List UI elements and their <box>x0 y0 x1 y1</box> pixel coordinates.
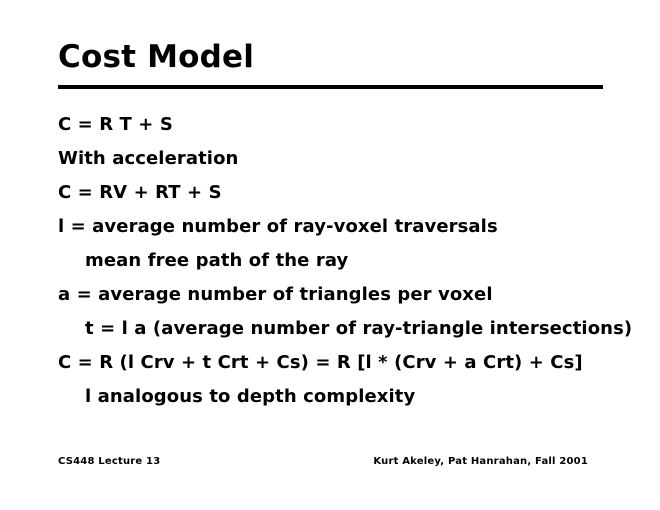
body-line: a = average number of triangles per voxe… <box>58 278 638 312</box>
footer-lecture-label: CS448 Lecture 13 <box>58 456 160 467</box>
page-title: Cost Model <box>58 38 254 76</box>
footer-authors-label: Kurt Akeley, Pat Hanrahan, Fall 2001 <box>373 456 588 467</box>
slide-body: C = R T + SWith accelerationC = RV + RT … <box>58 108 638 414</box>
body-line: With acceleration <box>58 142 638 176</box>
body-line: C = R (l Crv + t Crt + Cs) = R [l * (Crv… <box>58 346 638 380</box>
body-line: l analogous to depth complexity <box>58 380 638 414</box>
slide-footer: CS448 Lecture 13 Kurt Akeley, Pat Hanrah… <box>58 456 588 467</box>
body-line: l = average number of ray-voxel traversa… <box>58 210 638 244</box>
title-divider <box>58 85 603 89</box>
body-line: mean free path of the ray <box>58 244 638 278</box>
body-line: t = l a (average number of ray-triangle … <box>58 312 638 346</box>
body-line: C = RV + RT + S <box>58 176 638 210</box>
body-line: C = R T + S <box>58 108 638 142</box>
slide-canvas: Cost Model C = R T + SWith accelerationC… <box>0 0 660 510</box>
